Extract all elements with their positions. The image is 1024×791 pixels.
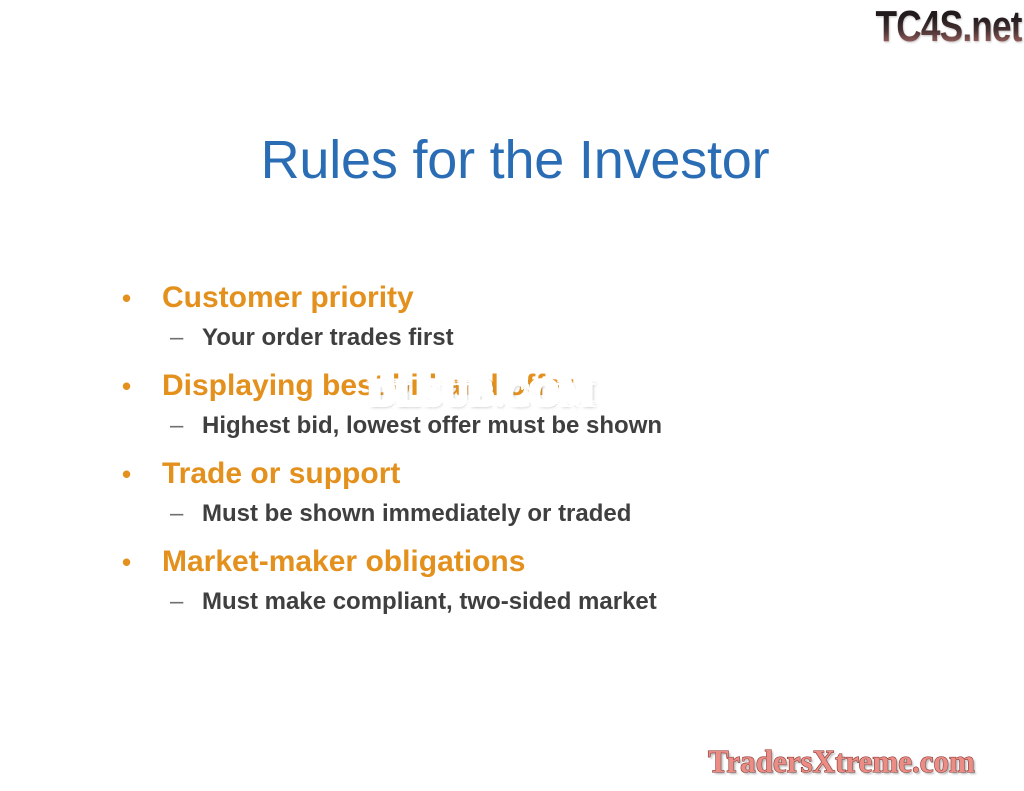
sub-list-item: – Must make compliant, two-sided market xyxy=(112,582,932,622)
list-item-label: Market-maker obligations xyxy=(162,545,525,578)
list-item: • Market-maker obligations xyxy=(112,542,932,582)
bullet-dot-icon: • xyxy=(122,454,142,494)
dash-icon: – xyxy=(170,406,194,446)
dash-icon: – xyxy=(170,318,194,358)
list-item: • Customer priority xyxy=(112,278,932,318)
sub-list-item-label: Must be shown immediately or traded xyxy=(202,500,631,527)
spacer xyxy=(112,446,932,454)
sub-list-item-label: Your order trades first xyxy=(202,324,454,351)
sub-list-item-label: Must make compliant, two-sided market xyxy=(202,588,657,615)
sub-list-item: – Your order trades first xyxy=(112,318,932,358)
sub-list-item: – Must be shown immediately or traded xyxy=(112,494,932,534)
bullet-dot-icon: • xyxy=(122,366,142,406)
page-title: Rules for the Investor xyxy=(120,128,910,192)
tc4s-logo-text: TC4S.net xyxy=(876,4,1022,50)
spacer xyxy=(112,534,932,542)
spacer xyxy=(112,358,932,366)
bullet-dot-icon: • xyxy=(122,542,142,582)
sub-list-item-label: Highest bid, lowest offer must be shown xyxy=(202,412,662,439)
tc4s-logo: TC4S.net xyxy=(826,0,1022,54)
dlsub-watermark-text: DLSUB.COM xyxy=(368,372,594,412)
list-item-label: Customer priority xyxy=(162,281,414,314)
dlsub-watermark: DLSUB.COM xyxy=(368,372,594,412)
bullet-group: • Market-maker obligations – Must make c… xyxy=(112,542,932,622)
dash-icon: – xyxy=(170,494,194,534)
list-item: • Trade or support xyxy=(112,454,932,494)
bullet-group: • Customer priority – Your order trades … xyxy=(112,278,932,358)
list-item-label: Trade or support xyxy=(162,457,400,490)
bullet-list: • Customer priority – Your order trades … xyxy=(112,278,932,622)
presentation-slide: TC4S.net Rules for the Investor • Custom… xyxy=(0,0,1024,791)
tradersxtreme-watermark: TradersXtreme.com xyxy=(708,742,975,780)
sub-list-item: – Highest bid, lowest offer must be show… xyxy=(112,406,932,446)
dash-icon: – xyxy=(170,582,194,622)
bullet-dot-icon: • xyxy=(122,278,142,318)
bullet-group: • Trade or support – Must be shown immed… xyxy=(112,454,932,534)
